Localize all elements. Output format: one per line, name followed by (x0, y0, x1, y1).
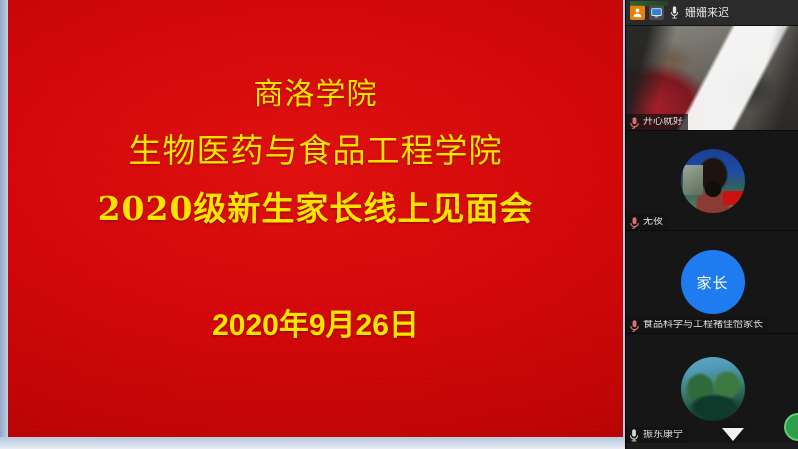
chevron-down-icon[interactable] (722, 428, 744, 441)
microphone-muted-icon (629, 116, 640, 128)
participant-name-chip: 振东康宁 (626, 427, 688, 443)
slide-line-event: 2020级新生家长线上见面会 (98, 191, 534, 227)
avatar-initials-label: 家长 (696, 272, 728, 293)
participant-name-chip: 无夜 (626, 214, 668, 230)
participant-tiles: 开心就好 无夜 (626, 26, 798, 449)
participant-tile-avatar-initials[interactable]: 家长 食品科学与工程褚佳怡家长 (626, 231, 798, 334)
avatar: 家长 (681, 250, 745, 314)
screen-share-icon[interactable] (649, 5, 664, 20)
microphone-icon (629, 429, 640, 441)
slide-line-college: 生物医药与食品工程学院 (129, 133, 503, 169)
participant-name-label: 开心就好 (643, 117, 683, 127)
participant-rail: 姗姗来迟 开心就好 (625, 0, 798, 449)
slide-line-university: 商洛学院 (254, 78, 378, 111)
self-name-label: 姗姗来迟 (685, 7, 729, 18)
microphone-muted-icon (629, 216, 640, 228)
participant-tile-avatar-scenery[interactable]: 振东康宁 (626, 334, 798, 443)
participant-name-chip: 食品科学与工程褚佳怡家长 (626, 317, 768, 333)
slide-bottom-frame (0, 437, 625, 449)
slide-left-frame (0, 0, 8, 437)
participant-name-chip: 开心就好 (626, 114, 688, 130)
slide-line-date: 2020年9月26日 (212, 300, 419, 344)
participant-name-label: 食品科学与工程褚佳怡家长 (643, 320, 763, 330)
avatar (681, 357, 745, 421)
self-status-bar[interactable]: 姗姗来迟 (626, 0, 798, 26)
participant-tile-avatar-photo[interactable]: 无夜 (626, 131, 798, 231)
avatar (681, 149, 745, 213)
screen-share-pane[interactable]: 商洛学院 生物医药与食品工程学院 2020级新生家长线上见面会 2020年9月2… (0, 0, 625, 449)
participant-name-label: 振东康宁 (643, 430, 683, 440)
presentation-slide: 商洛学院 生物医药与食品工程学院 2020级新生家长线上见面会 2020年9月2… (8, 0, 623, 437)
microphone-icon[interactable] (668, 5, 681, 20)
participant-name-label: 无夜 (643, 217, 663, 227)
participant-tile-video[interactable]: 开心就好 (626, 26, 798, 131)
meeting-window: 商洛学院 生物医药与食品工程学院 2020级新生家长线上见面会 2020年9月2… (0, 0, 798, 449)
microphone-muted-icon (629, 319, 640, 331)
person-avatar-icon (630, 5, 645, 20)
